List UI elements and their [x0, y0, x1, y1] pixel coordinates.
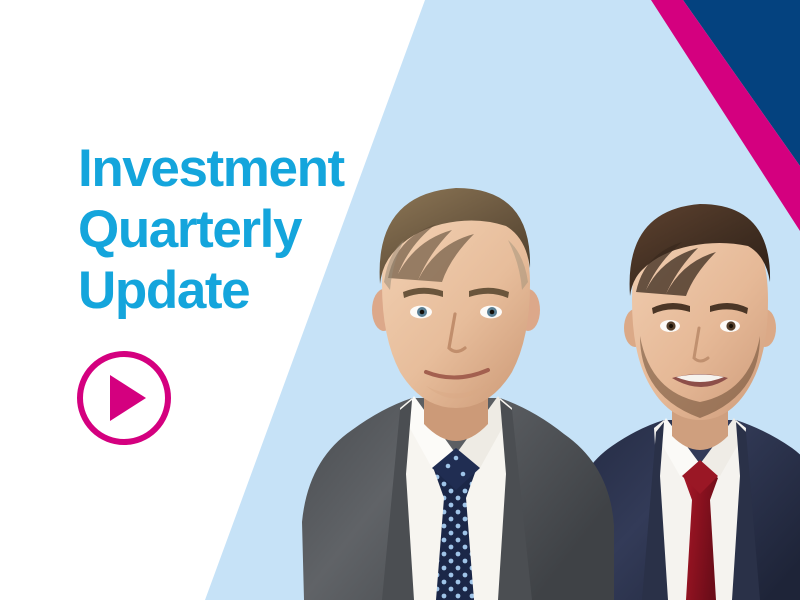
- play-button[interactable]: [77, 351, 171, 445]
- page-title: Investment Quarterly Update: [78, 138, 458, 321]
- title-line-2: Quarterly: [78, 199, 458, 260]
- video-thumbnail-card: Investment Quarterly Update: [0, 0, 800, 600]
- play-icon: [110, 375, 146, 421]
- title-line-1: Investment: [78, 138, 458, 199]
- title-line-3: Update: [78, 260, 458, 321]
